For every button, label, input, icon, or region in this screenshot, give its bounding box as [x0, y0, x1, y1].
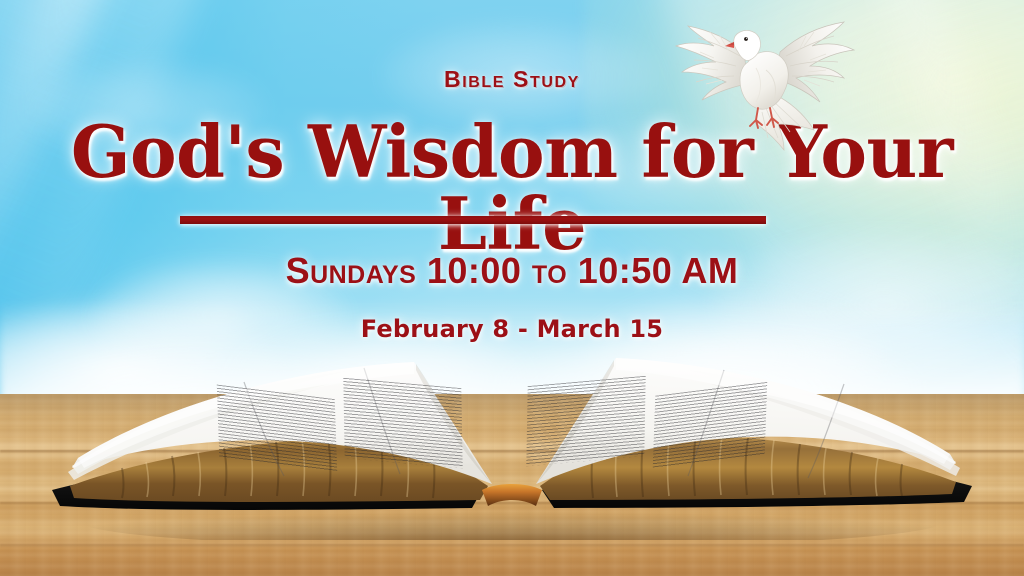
divider-rule [180, 216, 766, 224]
date-range-text: February 8 - March 15 [0, 315, 1024, 343]
dove-icon [662, 8, 868, 154]
bible-study-poster: Bible Study God's Wisdom for Your Life S… [0, 0, 1024, 576]
kicker-label: Bible Study [0, 66, 1024, 93]
poster-text-layer: Bible Study God's Wisdom for Your Life S… [0, 0, 1024, 576]
schedule-text: Sundays 10:00 to 10:50 AM [0, 250, 1024, 292]
